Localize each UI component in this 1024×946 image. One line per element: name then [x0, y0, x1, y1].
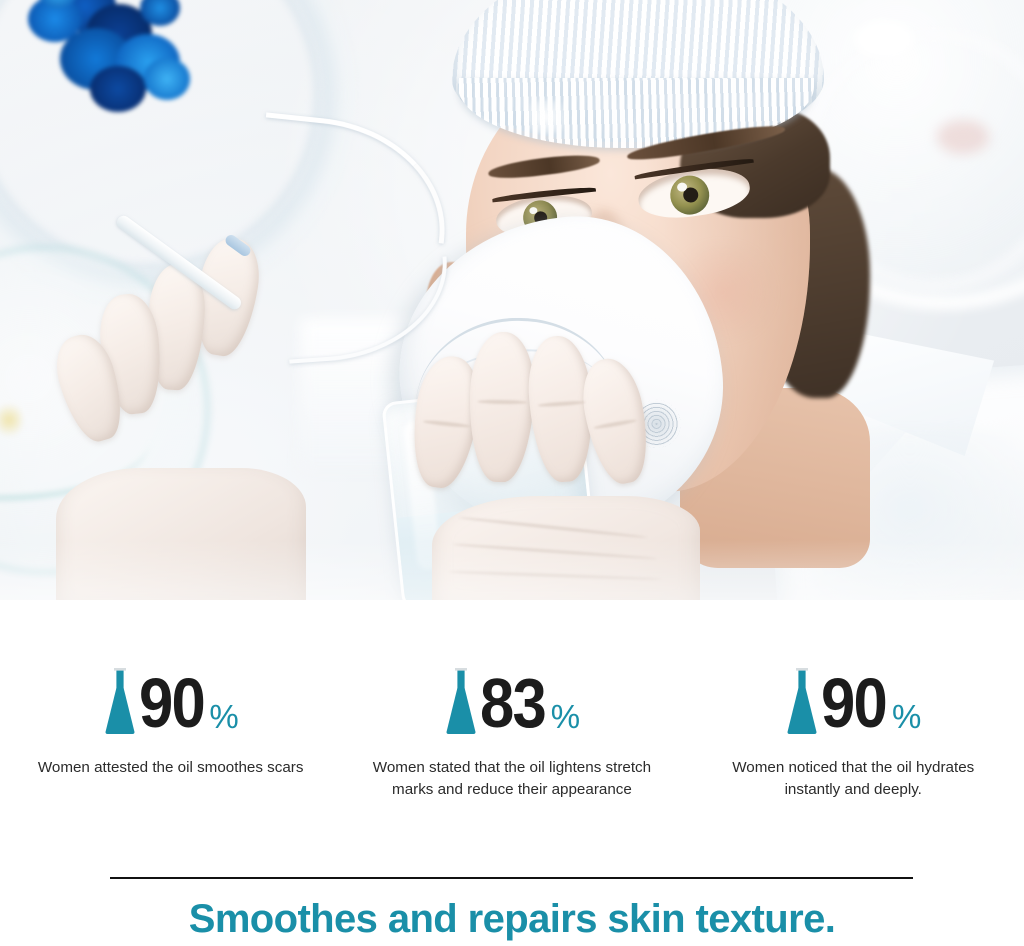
stat-figure-3: 90 % — [785, 662, 921, 738]
iris-right — [668, 173, 712, 217]
stat-figure-2: 83 % — [444, 662, 580, 738]
flask-icon — [444, 666, 478, 738]
stat-unit-2: % — [551, 700, 580, 738]
forehead-highlight — [518, 100, 574, 134]
headline: Smoothes and repairs skin texture. — [0, 893, 1024, 945]
stat-value-1: 90 — [139, 669, 204, 738]
finger-middle — [467, 331, 536, 483]
stat-value-3: 90 — [821, 669, 886, 738]
stat-figure-1: 90 % — [103, 662, 239, 738]
flask-icon — [785, 666, 819, 738]
glove-wrinkle-1 — [458, 516, 647, 539]
stat-block-3: 90 % Women noticed that the oil hydrates… — [683, 662, 1024, 800]
hero-bottom-fade — [0, 540, 1024, 600]
stat-unit-3: % — [892, 700, 921, 738]
hero-photo-canvas — [0, 0, 1024, 600]
stat-caption-3: Women noticed that the oil hydrates inst… — [709, 757, 997, 800]
stat-unit-1: % — [209, 700, 238, 738]
flask-icon — [103, 666, 137, 738]
stat-caption-2: Women stated that the oil lightens stret… — [369, 757, 655, 800]
stat-block-1: 90 % Women attested the oil smoothes sca… — [0, 662, 341, 800]
stat-block-2: 83 % Women stated that the oil lightens … — [341, 662, 682, 800]
hero-photo — [0, 0, 1024, 600]
stat-caption-1: Women attested the oil smoothes scars — [36, 757, 306, 779]
section-divider — [110, 877, 913, 879]
blue-specimen-blob — [20, 0, 210, 124]
stat-value-2: 83 — [480, 669, 545, 738]
glassware-pink-reflection — [937, 120, 989, 154]
stats-panel: 90 % Women attested the oil smoothes sca… — [0, 600, 1024, 946]
stats-row: 90 % Women attested the oil smoothes sca… — [0, 662, 1024, 800]
